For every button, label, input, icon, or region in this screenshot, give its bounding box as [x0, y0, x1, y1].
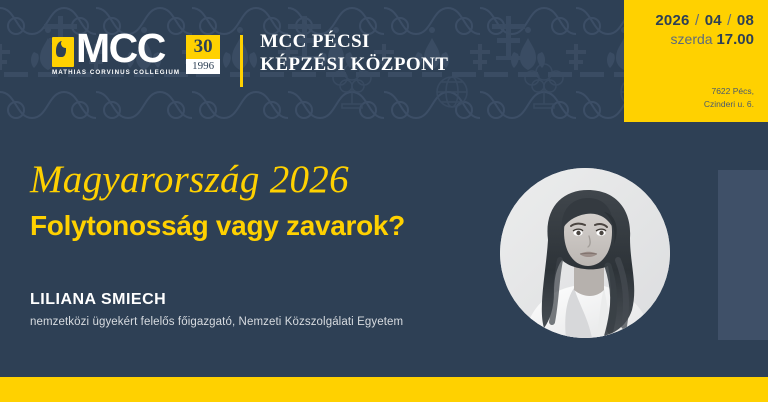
address-line-1: 7622 Pécs,: [704, 85, 754, 97]
event-time: 17.00: [716, 31, 754, 48]
page-title-serif: Magyarország 2026: [30, 160, 349, 199]
logo-divider: [240, 35, 243, 87]
mcc-wordmark: MCC: [76, 30, 165, 68]
raven-icon: [52, 37, 74, 67]
mcc-mark: MCC MATHIAS CORVINUS COLLEGIUM 30 1996: [52, 30, 220, 76]
event-day: 08: [737, 12, 754, 29]
speaker-role: nemzetközi ügyekért felelős főigazgató, …: [30, 316, 403, 328]
anniversary-badge: 30 1996: [186, 35, 220, 74]
event-address: 7622 Pécs, Czinderi u. 6.: [704, 85, 754, 110]
date-separator-2: /: [726, 12, 732, 29]
bottom-accent-bar: [0, 377, 768, 402]
venue-line-1: MCC PÉCSI: [260, 30, 448, 53]
speaker-name: LILIANA SMIECH: [30, 291, 166, 309]
founded-year: 1996: [186, 59, 220, 74]
portrait-image: [500, 168, 670, 338]
date-panel: 2026 / 04 / 08 szerda 17.00 7622 Pécs, C…: [624, 0, 768, 122]
event-month: 04: [705, 12, 722, 29]
date-separator-1: /: [694, 12, 700, 29]
venue-line-2: KÉPZÉSI KÖZPONT: [260, 53, 448, 76]
venue-name: MCC PÉCSI KÉPZÉSI KÖZPONT: [260, 30, 448, 76]
event-weekday: szerda: [671, 31, 713, 47]
mcc-logo-subtitle: MATHIAS CORVINUS COLLEGIUM: [52, 69, 180, 76]
address-line-2: Czinderi u. 6.: [704, 98, 754, 110]
mcc-logo-lockup: MCC MATHIAS CORVINUS COLLEGIUM 30 1996 M…: [52, 30, 448, 87]
event-date: 2026 / 04 / 08: [655, 12, 754, 29]
event-year: 2026: [655, 12, 689, 29]
event-poster: MCC MATHIAS CORVINUS COLLEGIUM 30 1996 M…: [0, 0, 768, 402]
event-weekday-time: szerda 17.00: [655, 31, 754, 49]
decorative-rectangle: [718, 170, 768, 340]
page-subtitle: Folytonosság vagy zavarok?: [30, 212, 405, 240]
anniversary-number: 30: [186, 35, 220, 59]
speaker-portrait: [500, 168, 670, 338]
